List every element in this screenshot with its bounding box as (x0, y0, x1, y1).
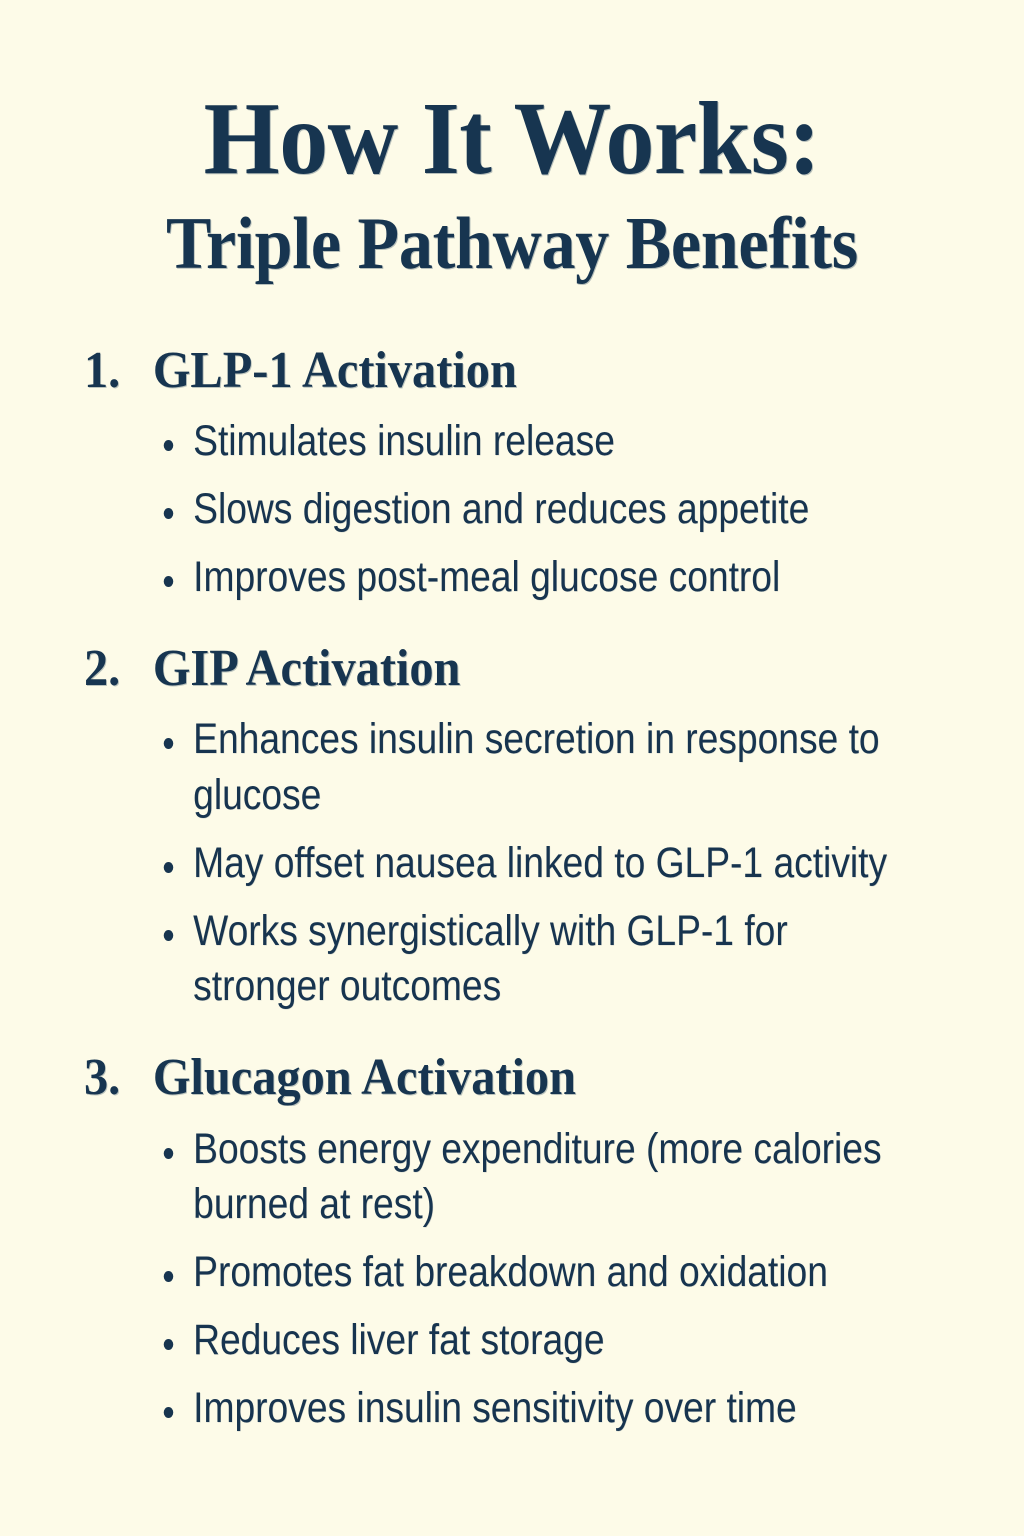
section-title: GIP Activation (153, 640, 461, 698)
poster-header: How It Works: Triple Pathway Benefits (0, 0, 1024, 284)
list-item: Stimulates insulin release (162, 414, 894, 470)
section-number: 2. (84, 640, 153, 698)
section-heading: 2. GIP Activation (84, 640, 943, 698)
list-item: Improves post-meal glucose control (162, 550, 894, 606)
list-item: Reduces liver fat storage (162, 1313, 894, 1369)
bullet-list: Stimulates insulin release Slows digesti… (84, 414, 1008, 606)
list-item: May offset nausea linked to GLP-1 activi… (162, 836, 894, 892)
section-glp1: 1. GLP-1 Activation Stimulates insulin r… (84, 342, 1008, 606)
section-gip: 2. GIP Activation Enhances insulin secre… (84, 640, 1008, 1016)
section-glucagon: 3. Glucagon Activation Boosts energy exp… (84, 1049, 1008, 1437)
page-title: How It Works: (31, 86, 994, 192)
section-number: 3. (84, 1049, 153, 1107)
section-heading: 1. GLP-1 Activation (84, 342, 943, 400)
section-list: 1. GLP-1 Activation Stimulates insulin r… (0, 342, 1024, 1437)
section-title: GLP-1 Activation (153, 342, 517, 400)
list-item: Boosts energy expenditure (more calories… (162, 1122, 894, 1234)
list-item: Enhances insulin secretion in response t… (162, 712, 894, 824)
list-item: Slows digestion and reduces appetite (162, 482, 894, 538)
list-item: Improves insulin sensitivity over time (162, 1381, 894, 1437)
bullet-list: Boosts energy expenditure (more calories… (84, 1122, 1008, 1437)
section-title: Glucagon Activation (153, 1049, 576, 1107)
section-heading: 3. Glucagon Activation (84, 1049, 943, 1107)
section-number: 1. (84, 342, 153, 400)
bullet-list: Enhances insulin secretion in response t… (84, 712, 1008, 1015)
poster-canvas: How It Works: Triple Pathway Benefits 1.… (0, 0, 1024, 1536)
list-item: Promotes fat breakdown and oxidation (162, 1245, 894, 1301)
list-item: Works synergistically with GLP-1 for str… (162, 904, 894, 1016)
page-subtitle: Triple Pathway Benefits (41, 206, 983, 284)
